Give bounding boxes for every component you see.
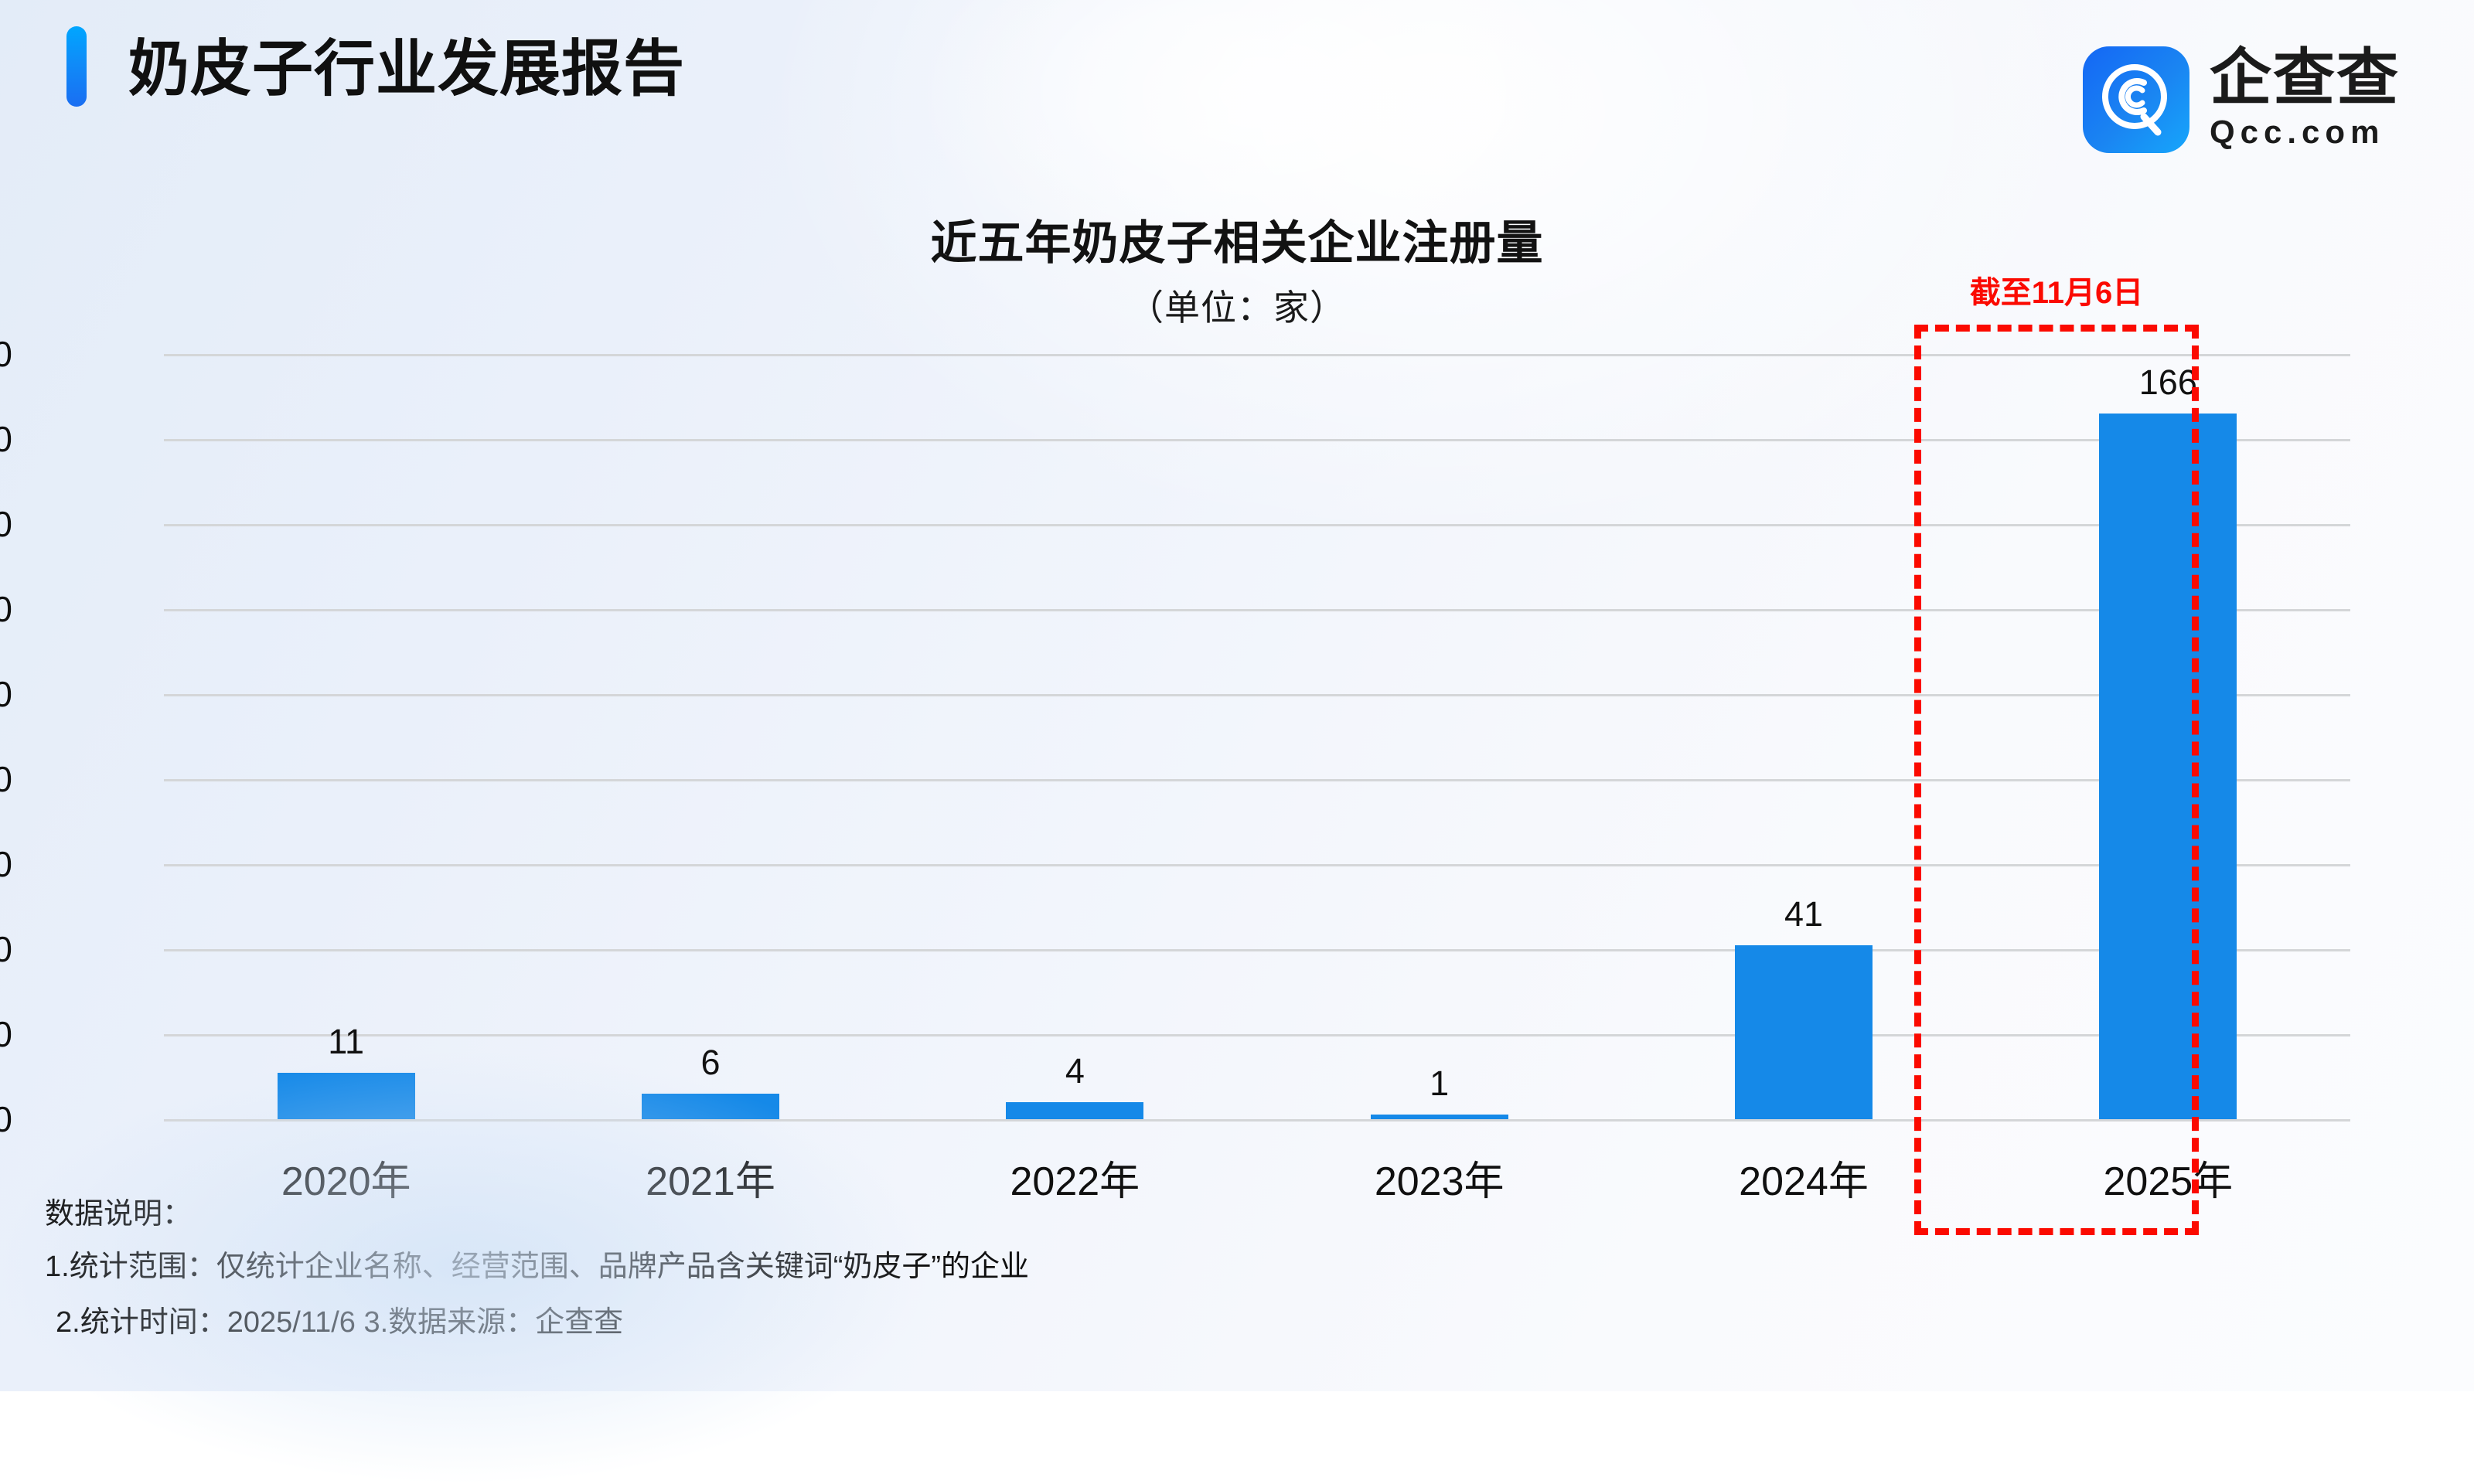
y-axis-tick-label: 40 (0, 928, 12, 970)
data-notes: 数据说明： 1.统计范围：仅统计企业名称、经营范围、品牌产品含关键词“奶皮子”的… (45, 1200, 1029, 1337)
x-axis-tick-label: 2020年 (281, 1149, 411, 1207)
y-axis-tick-label: 80 (0, 758, 12, 800)
bar-value-label: 6 (700, 1043, 720, 1083)
brand-text: 企查查 Qcc.com (2210, 49, 2400, 151)
y-axis-tick-label: 140 (0, 503, 12, 545)
bar (1371, 1115, 1508, 1119)
brand-name-cn: 企查查 (2210, 49, 2400, 107)
bar (278, 1073, 415, 1120)
bar (1006, 1102, 1143, 1119)
notes-line-1: 1.统计范围：仅统计企业名称、经营范围、品牌产品含关键词“奶皮子”的企业 (45, 1252, 1029, 1281)
y-axis-tick-label: 100 (0, 673, 12, 715)
bar-value-label: 41 (1784, 894, 1823, 934)
y-axis-tick-label: 0 (0, 1098, 12, 1140)
x-axis-tick-label: 2022年 (1010, 1149, 1140, 1207)
notes-heading: 数据说明： (45, 1200, 1029, 1229)
bar (642, 1094, 779, 1119)
notes-line-2: 2.统计时间：2025/11/6 3.数据来源：企查查 (56, 1308, 1029, 1337)
page-title: 奶皮子行业发展报告 (128, 19, 685, 107)
x-axis-tick-label: 2024年 (1739, 1149, 1869, 1207)
y-axis-tick-label: 180 (0, 333, 12, 375)
bar-value-label: 11 (328, 1022, 364, 1062)
bar-value-label: 4 (1065, 1051, 1085, 1091)
x-axis-tick-label: 2021年 (646, 1149, 775, 1207)
y-axis-tick-label: 60 (0, 843, 12, 885)
bar-value-label: 1 (1430, 1064, 1449, 1104)
brand-domain: Qcc.com (2210, 114, 2400, 151)
qcc-q-target-icon (2083, 46, 2189, 153)
y-axis-tick-label: 160 (0, 418, 12, 460)
chart-title: 近五年奶皮子相关企业注册量 (0, 206, 2474, 273)
brand-logo: 企查查 Qcc.com (2083, 46, 2400, 153)
x-axis-tick-label: 2023年 (1375, 1149, 1505, 1207)
poster-canvas: 奶皮子行业发展报告 企查查 Qcc.com 近五年奶皮子相关企业注册量 （单位：… (0, 0, 2474, 1391)
bar (1735, 945, 1873, 1120)
title-accent-bar (66, 26, 87, 107)
y-axis-tick-label: 20 (0, 1013, 12, 1055)
highlight-annotation-box (1914, 325, 2199, 1235)
highlight-annotation-label: 截至11月6日 (1914, 267, 2199, 312)
y-axis-tick-label: 120 (0, 588, 12, 630)
